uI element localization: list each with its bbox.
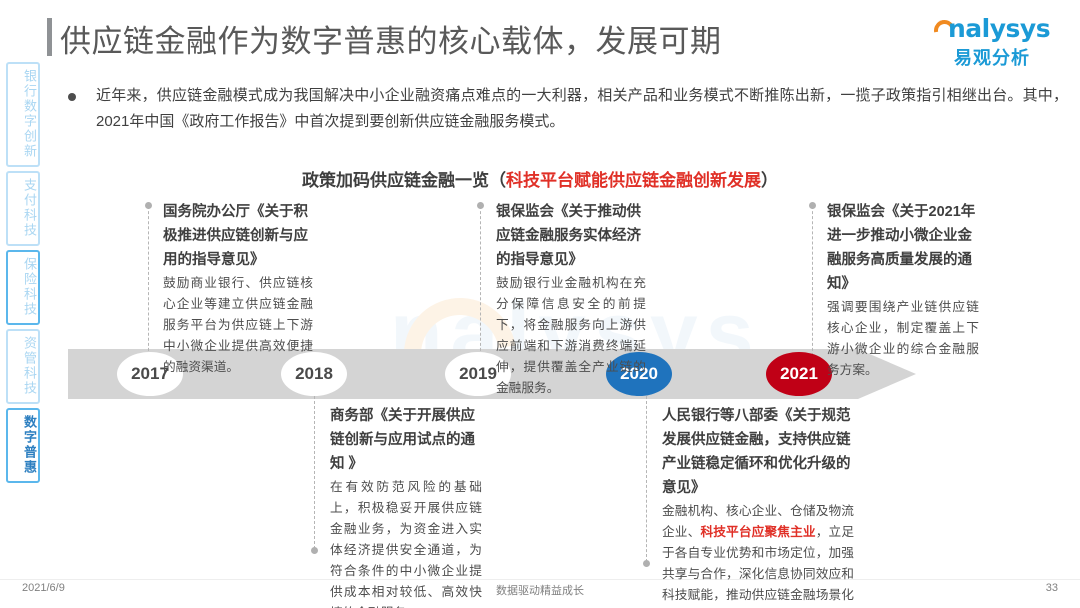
connector-2019 [480, 206, 481, 356]
connector-dot-2021 [809, 202, 816, 209]
sidebar-item-insurance-tech[interactable]: 保险科技 [6, 250, 40, 325]
page-title: 供应链金融作为数字普惠的核心载体，发展可期 [60, 16, 722, 61]
intro-bullet: 近年来，供应链金融模式成为我国解决中小企业融资痛点难点的一大利器，相关产品和业务… [68, 83, 1068, 135]
event-heading-2018: 商务部《关于开展供应链创新与应用试点的通知 》 [330, 404, 482, 476]
connector-2018 [314, 396, 315, 549]
event-card-2018: 商务部《关于开展供应链创新与应用试点的通知 》 在有效防范风险的基础上，积极稳妥… [330, 404, 482, 608]
year-marker-2021[interactable]: 2021 [766, 352, 832, 396]
event-body-2017: 鼓励商业银行、供应链核心企业等建立供应链金融服务平台为供应链上下游中小微企业提供… [163, 273, 313, 378]
event-heading-2021: 银保监会《关于2021年进一步推动小微企业金融服务高质量发展的通知》 [827, 200, 979, 296]
sidebar: 银行数字创新 支付科技 保险科技 资管科技 数字普惠 [6, 62, 44, 487]
bullet-dot-icon [68, 93, 76, 101]
sidebar-item-payment-tech[interactable]: 支付科技 [6, 171, 40, 246]
event-card-2017: 国务院办公厅《关于积极推进供应链创新与应用的指导意见》 鼓励商业银行、供应链核心… [163, 200, 313, 378]
connector-2020 [646, 396, 647, 562]
connector-dot-2020 [643, 560, 650, 567]
intro-paragraph: 近年来，供应链金融模式成为我国解决中小企业融资痛点难点的一大利器，相关产品和业务… [96, 83, 1068, 135]
connector-dot-2018 [311, 547, 318, 554]
chart-title-highlight: 科技平台赋能供应链金融创新发展 [506, 171, 761, 190]
slide-canvas: nalysys 供应链金融作为数字普惠的核心载体，发展可期 nalysys 易观… [0, 0, 1080, 608]
analysys-logo: nalysys 易观分析 [932, 14, 1052, 68]
footer: 2021/6/9 数据驱动精益成长 33 [0, 582, 1080, 602]
event-body-2021: 强调要围绕产业链供应链核心企业，制定覆盖上下游小微企业的综合金融服务方案。 [827, 297, 979, 381]
sidebar-item-asset-management-tech[interactable]: 资管科技 [6, 329, 40, 404]
footer-slogan: 数据驱动精益成长 [0, 582, 1080, 598]
sidebar-item-digital-inclusive-finance[interactable]: 数字普惠 [6, 408, 40, 483]
chart-title-tail: ） [761, 171, 778, 190]
connector-2017 [148, 206, 149, 356]
logo-chinese-name: 易观分析 [954, 44, 1030, 70]
event-heading-2020: 人民银行等八部委《关于规范发展供应链金融，支持供应链产业链稳定循环和优化升级的意… [662, 404, 854, 500]
title-accent-bar [47, 18, 52, 56]
connector-dot-2017 [145, 202, 152, 209]
chart-title: 政策加码供应链金融一览（科技平台赋能供应链金融创新发展） [0, 166, 1080, 191]
event-heading-2019: 银保监会《关于推动供应链金融服务实体经济的指导意见》 [496, 200, 646, 272]
event-card-2020: 人民银行等八部委《关于规范发展供应链金融，支持供应链产业链稳定循环和优化升级的意… [662, 404, 854, 608]
connector-2021 [812, 206, 813, 356]
chart-title-main: 政策加码供应链金融一览（ [302, 171, 506, 190]
logo-wordmark: nalysys [948, 14, 1050, 43]
event-heading-2017: 国务院办公厅《关于积极推进供应链创新与应用的指导意见》 [163, 200, 313, 272]
sidebar-item-bank-digital-innovation[interactable]: 银行数字创新 [6, 62, 40, 167]
footer-divider [0, 579, 1080, 580]
event-card-2021: 银保监会《关于2021年进一步推动小微企业金融服务高质量发展的通知》 强调要围绕… [827, 200, 979, 381]
event-body-2019: 鼓励银行业金融机构在充分保障信息安全的前提下，将金融服务向上游供应前端和下游消费… [496, 273, 646, 399]
footer-page-number: 33 [1046, 582, 1058, 594]
event-card-2019: 银保监会《关于推动供应链金融服务实体经济的指导意见》 鼓励银行业金融机构在充分保… [496, 200, 646, 399]
connector-dot-2019 [477, 202, 484, 209]
event-body-2020-highlight: 科技平台应聚焦主业 [700, 525, 815, 539]
